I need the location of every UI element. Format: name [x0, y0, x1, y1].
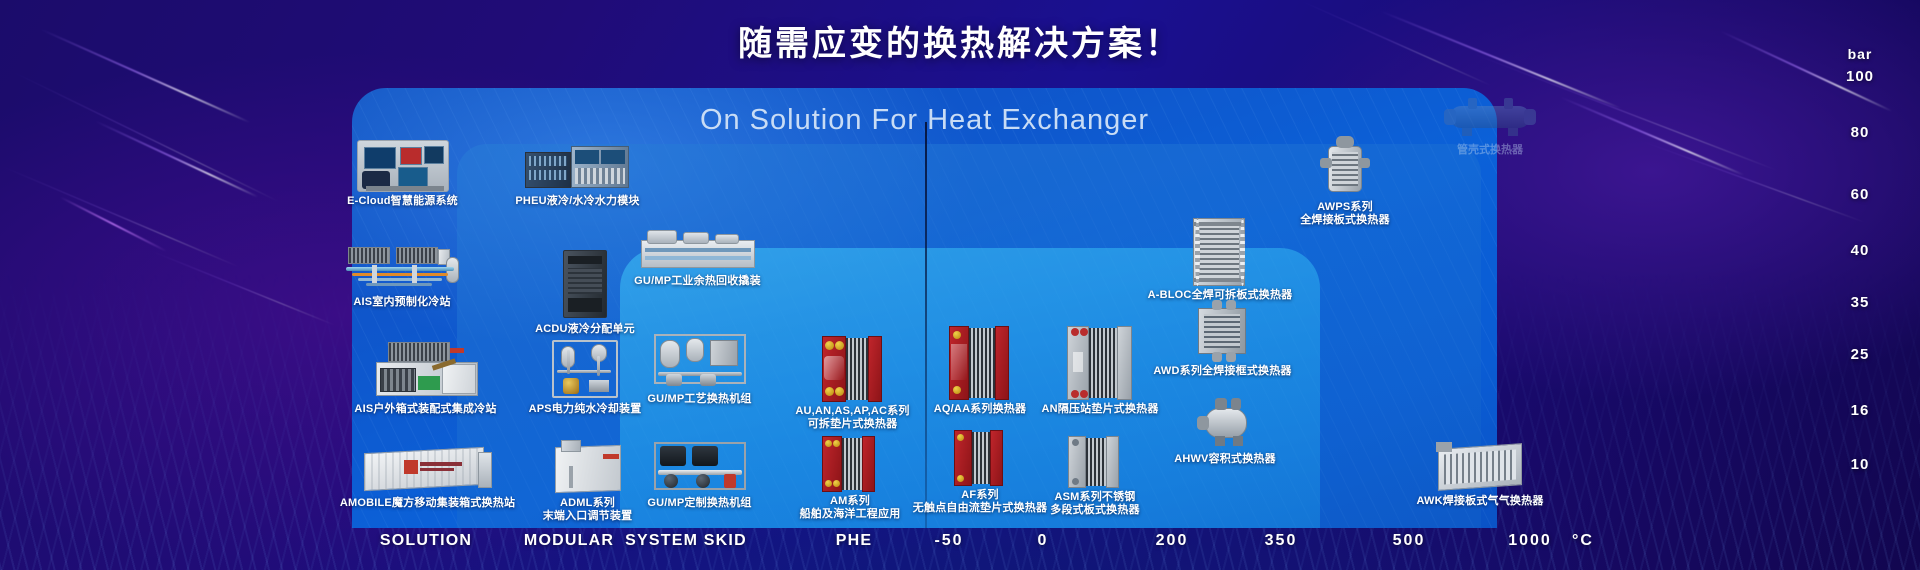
product-label: AIS户外箱式装配式集成冷站: [338, 403, 513, 416]
product-label: GU/MP工业余热回收撬装: [625, 275, 770, 288]
axis-tick-1000: 1000: [1508, 532, 1552, 550]
product-label: AMOBILE魔方移动集装箱式换热站: [330, 497, 525, 510]
bottom-axis: SOLUTION MODULAR SYSTEM SKID PHE -50 0 2…: [0, 532, 1920, 560]
product-pheu[interactable]: PHEU液冷/水冷水力模块: [510, 140, 645, 208]
product-awk[interactable]: AWK焊接板式气气换热器: [1400, 440, 1560, 508]
axis-label-phe: PHE: [836, 532, 873, 550]
product-ahwv[interactable]: AHWV容积式换热器: [1145, 396, 1305, 466]
pressure-tick-10: 10: [1800, 456, 1920, 473]
product-label: GU/MP定制换热机组: [632, 497, 767, 510]
axis-label-solution: SOLUTION: [380, 532, 472, 550]
pressure-tick-25: 25: [1800, 346, 1920, 363]
pressure-tick-100: 100: [1800, 68, 1920, 85]
pressure-tick-40: 40: [1800, 242, 1920, 259]
product-amobile[interactable]: AMOBILE魔方移动集装箱式换热站: [330, 442, 525, 510]
product-awd-series[interactable]: AWD系列全焊接框式换热器: [1140, 300, 1305, 378]
temperature-axis-unit: °C: [1572, 532, 1594, 550]
shell-and-tube-ghost: 管壳式换热器: [1430, 96, 1550, 157]
pressure-tick-60: 60: [1800, 186, 1920, 203]
product-ais-outdoor[interactable]: AIS户外箱式装配式集成冷站: [338, 342, 513, 416]
product-gump-waste[interactable]: GU/MP工业余热回收撬装: [625, 230, 770, 288]
product-label: AIS室内预制化冷站: [332, 296, 472, 309]
product-am-series[interactable]: AM系列 船舶及海洋工程应用: [790, 436, 910, 521]
axis-label-system-skid: SYSTEM SKID: [625, 532, 747, 550]
product-label: AHWV容积式换热器: [1145, 453, 1305, 466]
product-label: GU/MP工艺换热机组: [632, 393, 767, 406]
product-label: AWPS系列 全焊接板式换热器: [1270, 201, 1420, 227]
product-a-bloc[interactable]: A-BLOC全焊可拆板式换热器: [1140, 218, 1300, 302]
product-label: PHEU液冷/水冷水力模块: [510, 195, 645, 208]
product-gump-process[interactable]: GU/MP工艺换热机组: [632, 332, 767, 406]
product-label: ACDU液冷分配单元: [525, 323, 645, 336]
product-label: AWD系列全焊接框式换热器: [1140, 365, 1305, 378]
axis-tick-200: 200: [1156, 532, 1189, 550]
product-e-cloud[interactable]: E-Cloud智慧能源系统: [340, 140, 465, 208]
product-label: ASM系列不锈钢 多段式板式换热器: [1020, 491, 1170, 517]
product-label: E-Cloud智慧能源系统: [340, 195, 465, 208]
axis-tick-0: 0: [1038, 532, 1049, 550]
pressure-axis-unit: bar: [1800, 46, 1920, 62]
axis-tick-500: 500: [1393, 532, 1426, 550]
product-aps[interactable]: APS电力纯水冷却装置: [520, 338, 650, 416]
product-ais-indoor[interactable]: AIS室内预制化冷站: [332, 245, 472, 309]
ghost-label: 管壳式换热器: [1430, 141, 1550, 157]
axis-tick-350: 350: [1265, 532, 1298, 550]
product-awps[interactable]: AWPS系列 全焊接板式换热器: [1270, 136, 1420, 227]
product-gump-custom[interactable]: GU/MP定制换热机组: [632, 438, 767, 510]
pressure-tick-35: 35: [1800, 294, 1920, 311]
axis-label-modular: MODULAR: [524, 532, 614, 550]
product-label: AM系列 船舶及海洋工程应用: [790, 495, 910, 521]
axis-tick-minus-50: -50: [934, 532, 963, 550]
page-title: 随需应变的换热解决方案！: [0, 16, 1920, 65]
pressure-axis: bar 100 80 60 40 35 25 16 10: [1800, 46, 1920, 466]
product-label: AWK焊接板式气气换热器: [1400, 495, 1560, 508]
product-label: APS电力纯水冷却装置: [520, 403, 650, 416]
pressure-tick-80: 80: [1800, 124, 1920, 141]
pressure-tick-16: 16: [1800, 402, 1920, 419]
